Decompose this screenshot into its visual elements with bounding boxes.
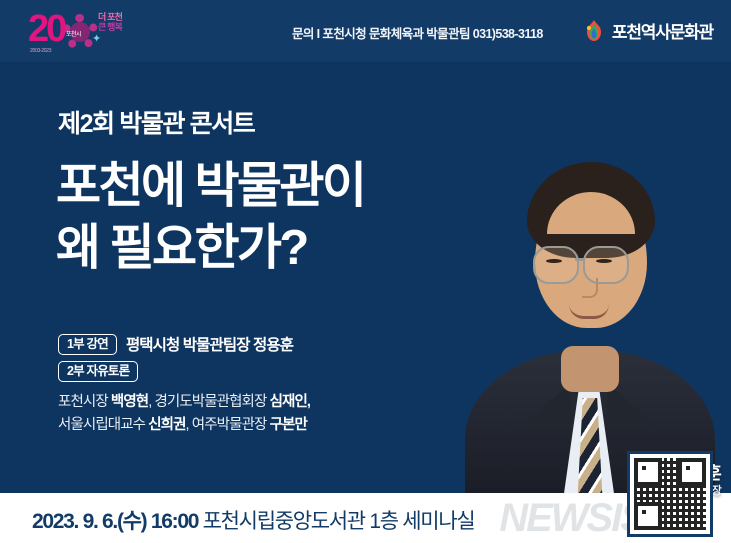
panelist-3-title: 서울시립대교수 — [58, 417, 148, 433]
part-1-speaker: 평택시청 박물관팀장 정용훈 — [126, 333, 293, 355]
pocheon-20th-anniversary-logo: 20 포천시 2003-2023 ✦ 더 포천 큰 행복 — [26, 6, 146, 58]
event-date: 2023. 9. 6.(수) 16:00 — [32, 510, 198, 533]
part-1-badge: 1부 강연 — [58, 334, 117, 355]
slogan-line-1: 더 포천 — [98, 12, 122, 22]
qr-finder-bottom-left — [634, 502, 662, 530]
portrait-nose — [582, 278, 598, 298]
panelist-3-name: 신희권 — [148, 417, 185, 433]
panelist-line-1: 포천시장 백영현, 경기도박물관협회장 심재인, — [58, 391, 310, 414]
qr-code[interactable] — [627, 451, 713, 537]
headline-line-2: 왜 필요한가? — [56, 221, 307, 275]
event-datetime-venue: 2023. 9. 6.(수) 16:00 포천시립중앙도서관 1층 세미나실 — [32, 505, 474, 535]
flame-logo-icon — [583, 19, 605, 43]
museum-brand-name: 포천역사문화관 — [612, 18, 713, 43]
panelist-line-2: 서울시립대교수 신희권, 여주박물관장 구본만 — [58, 414, 310, 437]
anniversary-number: 20 — [28, 10, 64, 48]
headline-line-1: 포천에 박물관이 — [56, 159, 364, 213]
anniversary-city-tag: 포천시 — [66, 29, 81, 38]
slogan-line-2: 큰 행복 — [98, 22, 122, 32]
portrait-glasses-left-lens — [533, 246, 579, 284]
qr-finder-top-left — [634, 458, 662, 486]
sparkle-icon: ✦ — [92, 32, 101, 45]
event-poster: 20 포천시 2003-2023 ✦ 더 포천 큰 행복 문의 I 포천시청 문… — [0, 0, 731, 543]
panelist-4-name: 구본만 — [270, 417, 307, 433]
panelist-1-name: 백영현 — [111, 394, 148, 410]
program-part-2-row: 2부 자유토론 — [58, 361, 310, 382]
anniversary-slogan: 더 포천 큰 행복 — [98, 12, 148, 32]
event-venue: 포천시립중앙도서관 1층 세미나실 — [198, 510, 474, 533]
qr-finder-top-right — [678, 458, 706, 486]
portrait-eye-left — [546, 259, 562, 263]
panelist-2-name: 심재인, — [270, 394, 310, 410]
anniversary-years: 2003-2023 — [30, 48, 51, 54]
poster-footer: 2023. 9. 6.(수) 16:00 포천시립중앙도서관 1층 세미나실 — [0, 493, 731, 543]
contact-info: 문의 I 포천시청 문화체육과 박물관팀 031)538-3118 — [292, 23, 543, 42]
speaker-portrait-photo — [449, 128, 729, 500]
poster-header: 20 포천시 2003-2023 ✦ 더 포천 큰 행복 문의 I 포천시청 문… — [0, 0, 731, 62]
portrait-glasses-bridge — [575, 258, 585, 261]
portrait-hair — [527, 162, 655, 258]
portrait-neck — [561, 346, 619, 392]
poster-headline: 포천에 박물관이 왜 필요한가? — [56, 155, 364, 279]
panelist-2-title: , 경기도박물관협회장 — [148, 394, 269, 410]
museum-brand: 포천역사문화관 — [583, 18, 713, 43]
qr-code-pattern — [634, 458, 706, 530]
portrait-eye-right — [596, 259, 612, 263]
panelist-list: 포천시장 백영현, 경기도박물관협회장 심재인, 서울시립대교수 신희권, 여주… — [58, 391, 310, 437]
poster-kicker: 제2회 박물관 콘서트 — [58, 104, 254, 140]
program-part-1-row: 1부 강연 평택시청 박물관팀장 정용훈 — [58, 333, 310, 355]
part-2-badge: 2부 자유토론 — [58, 361, 138, 382]
program-section: 1부 강연 평택시청 박물관팀장 정용훈 2부 자유토론 포천시장 백영현, 경… — [58, 333, 310, 437]
panelist-4-title: , 여주박물관장 — [186, 417, 270, 433]
panelist-1-title: 포천시장 — [58, 394, 111, 410]
